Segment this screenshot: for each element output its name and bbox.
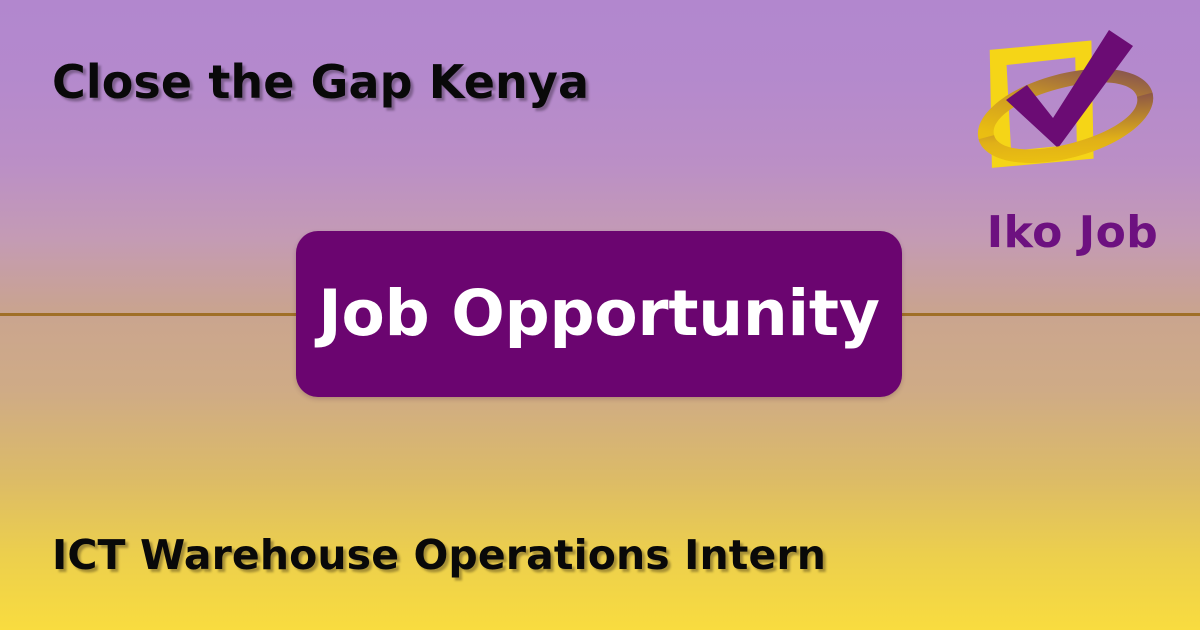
logo-wordmark: Iko Job — [965, 207, 1180, 258]
iko-job-logo: Iko Job — [965, 22, 1187, 272]
job-opportunity-button-label: Job Opportunity — [318, 282, 879, 345]
job-opportunity-card: Close the Gap Kenya — [0, 0, 1200, 630]
job-title: ICT Warehouse Operations Intern — [52, 531, 826, 579]
organization-title: Close the Gap Kenya — [52, 55, 589, 109]
checkmark-in-square-with-swoosh-icon — [965, 22, 1165, 197]
job-opportunity-button[interactable]: Job Opportunity — [296, 231, 902, 397]
